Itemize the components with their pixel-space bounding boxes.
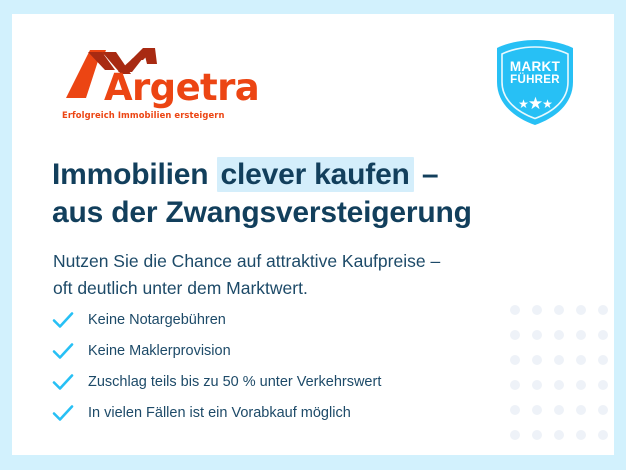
star-icon: ★ — [542, 97, 552, 111]
list-item-label: Keine Maklerprovision — [88, 343, 231, 359]
list-item-label: Zuschlag teils bis zu 50 % unter Verkehr… — [88, 374, 381, 390]
star-icon: ★ — [528, 94, 542, 113]
list-item: Keine Notargebühren — [52, 304, 522, 335]
list-item: In vielen Fällen ist ein Vorabkauf mögli… — [52, 397, 522, 428]
dot — [598, 330, 608, 340]
dot — [532, 380, 542, 390]
badge-stars: ★★★ — [489, 94, 581, 114]
dot — [554, 430, 564, 440]
argetra-logo[interactable]: Argetra Erfolgreich Immobilien ersteiger… — [58, 44, 238, 128]
dot — [576, 380, 586, 390]
list-item: Keine Maklerprovision — [52, 335, 522, 366]
promo-banner-frame: Argetra Erfolgreich Immobilien ersteiger… — [0, 0, 626, 470]
badge-line-2: FÜHRER — [489, 74, 581, 86]
list-item: Zuschlag teils bis zu 50 % unter Verkehr… — [52, 366, 522, 397]
dot — [532, 355, 542, 365]
dot — [554, 305, 564, 315]
list-item-label: Keine Notargebühren — [88, 312, 226, 328]
subheading: Nutzen Sie die Chance auf attraktive Kau… — [53, 248, 573, 302]
dot — [576, 305, 586, 315]
headline-text-before: Immobilien — [52, 158, 217, 191]
check-icon — [52, 311, 74, 329]
subheading-line-2: oft deutlich unter dem Marktwert. — [53, 275, 573, 302]
dot — [532, 430, 542, 440]
star-icon: ★ — [518, 97, 528, 111]
list-item-label: In vielen Fällen ist ein Vorabkauf mögli… — [88, 405, 351, 421]
dot — [598, 355, 608, 365]
dot — [576, 430, 586, 440]
dot — [532, 305, 542, 315]
dot — [554, 405, 564, 415]
check-icon — [52, 373, 74, 391]
headline-line-1: Immobilien clever kaufen – — [52, 156, 572, 194]
dot — [554, 380, 564, 390]
market-leader-badge: MARKT FÜHRER ★★★ — [489, 36, 581, 128]
dot — [532, 330, 542, 340]
page-title: Immobilien clever kaufen – aus der Zwang… — [52, 156, 572, 232]
dot — [554, 355, 564, 365]
dot — [598, 405, 608, 415]
dot — [532, 405, 542, 415]
promo-card: Argetra Erfolgreich Immobilien ersteiger… — [12, 14, 614, 455]
headline-line-2: aus der Zwangsversteigerung — [52, 194, 572, 232]
badge-text: MARKT FÜHRER — [489, 60, 581, 86]
headline-text-after: – — [414, 158, 439, 191]
subheading-line-1: Nutzen Sie die Chance auf attraktive Kau… — [53, 248, 573, 275]
logo-tagline: Erfolgreich Immobilien ersteigern — [62, 110, 225, 120]
dot — [510, 430, 520, 440]
dot — [598, 380, 608, 390]
check-icon — [52, 342, 74, 360]
dot — [598, 305, 608, 315]
badge-line-1: MARKT — [489, 60, 581, 74]
logo-wordmark: Argetra — [104, 69, 259, 106]
dot — [576, 330, 586, 340]
dot — [598, 430, 608, 440]
headline-highlight: clever kaufen — [217, 157, 414, 192]
dot — [554, 330, 564, 340]
benefits-list: Keine Notargebühren Keine Maklerprovisio… — [52, 304, 522, 428]
check-icon — [52, 404, 74, 422]
dot — [576, 405, 586, 415]
dot — [576, 355, 586, 365]
